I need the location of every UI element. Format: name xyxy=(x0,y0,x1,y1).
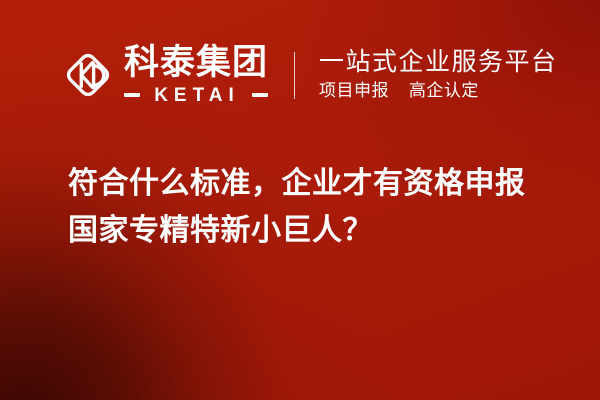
headline-line-2: 国家专精特新小巨人？ xyxy=(68,207,568,254)
headline-line-1: 符合什么标准，企业才有资格申报 xyxy=(68,160,568,207)
banner-header: 科泰集团 KETAI 一站式企业服务平台 项目申报 高企认定 xyxy=(0,38,600,112)
brand-name-en: KETAI xyxy=(148,86,246,105)
ketai-diamond-kt-monogram-icon xyxy=(60,47,116,103)
page-title: 符合什么标准，企业才有资格申报 国家专精特新小巨人？ xyxy=(68,160,568,254)
tagline-sub-left: 项目申报 xyxy=(319,81,389,101)
brand-name-en-row: KETAI xyxy=(124,86,268,105)
tagline-sub-right: 高企认定 xyxy=(409,81,479,101)
tagline-main: 一站式企业服务平台 xyxy=(319,48,558,75)
tagline: 一站式企业服务平台 项目申报 高企认定 xyxy=(319,48,558,101)
header-divider xyxy=(294,52,295,99)
promo-banner: 科泰集团 KETAI 一站式企业服务平台 项目申报 高企认定 符合什么标准，企业… xyxy=(0,0,600,400)
brand-rule-left-icon xyxy=(124,93,140,97)
brand-rule-right-icon xyxy=(252,93,268,97)
brand-wordmark: 科泰集团 KETAI xyxy=(124,46,268,105)
brand-logo[interactable]: 科泰集团 KETAI xyxy=(60,46,268,105)
tagline-sub: 项目申报 高企认定 xyxy=(319,81,558,101)
brand-name-cn: 科泰集团 xyxy=(124,46,268,81)
